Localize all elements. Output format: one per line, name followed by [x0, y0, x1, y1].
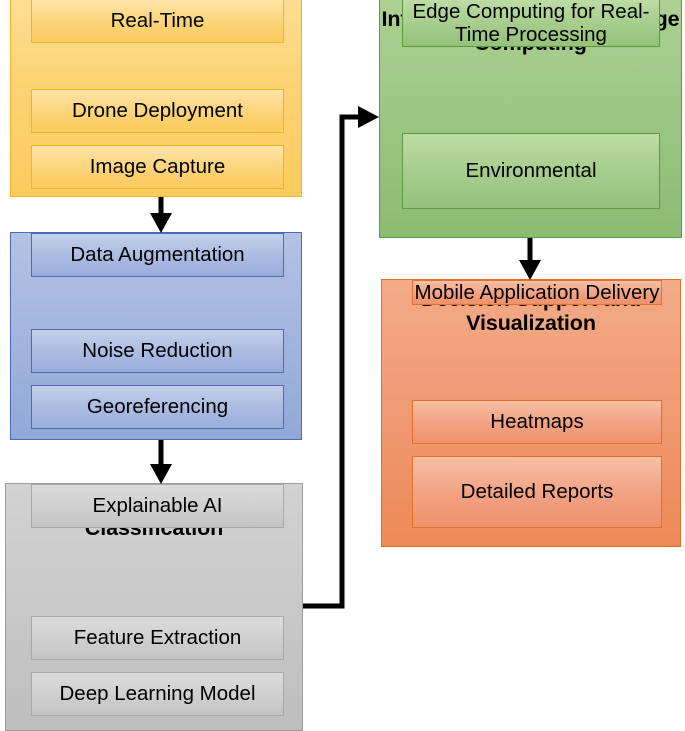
item-mobile-application-delivery[interactable]: Mobile Application Delivery	[412, 280, 662, 305]
arrow-preprocessing-to-detection	[150, 440, 172, 484]
item-data-augmentation[interactable]: Data Augmentation	[31, 233, 284, 277]
item-georeferencing[interactable]: Georeferencing	[31, 385, 284, 429]
group-decision-support-and-visualization[interactable]: Decision Support and Visualization Heatm…	[381, 279, 681, 547]
arrow-detection-to-integration	[303, 106, 379, 606]
item-feature-extraction[interactable]: Feature Extraction	[31, 616, 284, 660]
item-detailed-reports[interactable]: Detailed Reports	[412, 456, 662, 528]
group-data-acquisition[interactable]: Data Acquisition Drone Deployment Image …	[10, 0, 302, 197]
item-heatmaps[interactable]: Heatmaps	[412, 400, 662, 444]
flowchart-canvas: Data Acquisition Drone Deployment Image …	[0, 0, 685, 728]
group-integration-with-iot-and-edge-computing[interactable]: Integration with IoT and Edge Computing …	[379, 0, 682, 238]
item-environmental[interactable]: Environmental	[402, 133, 660, 209]
item-explainable-ai[interactable]: Explainable AI	[31, 484, 284, 528]
group-pre-processing[interactable]: Pre-processing Noise Reduction Georefere…	[10, 232, 302, 440]
item-deep-learning-model[interactable]: Deep Learning Model	[31, 672, 284, 716]
item-edge-computing-for-real-time-processing[interactable]: Edge Computing for Real-Time Processing	[402, 0, 660, 47]
item-image-capture[interactable]: Image Capture	[31, 145, 284, 189]
arrow-integration-to-decision	[519, 238, 541, 280]
item-drone-deployment[interactable]: Drone Deployment	[31, 89, 284, 133]
item-noise-reduction[interactable]: Noise Reduction	[31, 329, 284, 373]
item-real-time[interactable]: Real-Time	[31, 0, 284, 43]
arrow-acquisition-to-preprocessing	[150, 197, 172, 233]
group-disease-detection-and-classification[interactable]: Disease Detection and Classification Fea…	[5, 483, 303, 731]
